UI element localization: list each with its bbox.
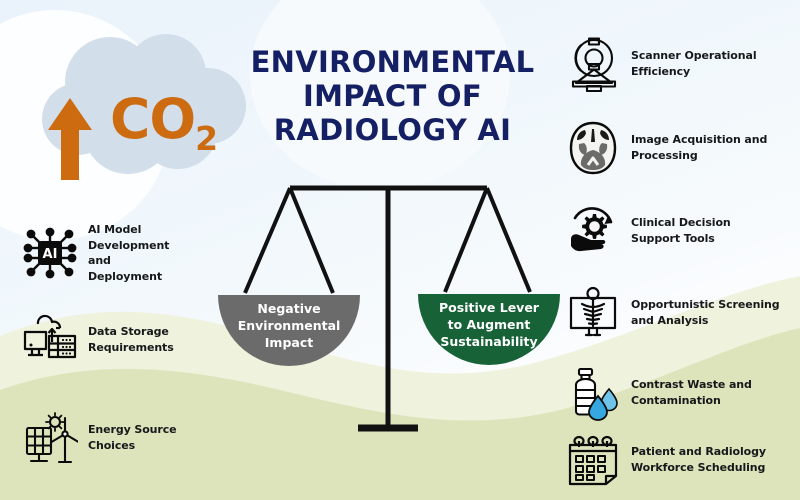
right-pan-line-2: to Augment [448,317,531,332]
list-item-image-acquisition[interactable]: Image Acquisition and Processing [565,120,781,176]
co2-label: CO2 [110,92,217,155]
list-item-workforce-scheduling[interactable]: Patient and Radiology Workforce Scheduli… [565,432,781,488]
list-item-label: Scanner Operational Efficiency [631,48,781,79]
title-line-3: RADIOLOGY AI [215,114,570,148]
brain-scan-icon [565,120,621,176]
list-item-label: Clinical Decision Support Tools [631,215,781,246]
ai-chip-icon: AI [22,225,78,281]
list-item-label: Contrast Waste and Contamination [631,377,781,408]
cloud-server-icon [22,312,78,368]
contrast-vial-icon [565,365,621,421]
balance-scale: Negative Environmental Impact Positive L… [190,175,590,460]
left-pan-line-2: Environmental [238,318,341,333]
title-line-2: IMPACT OF [215,80,570,114]
list-item-label: Patient and Radiology Workforce Scheduli… [631,444,781,475]
list-item-opportunistic-screening[interactable]: Opportunistic Screening and Analysis [565,285,781,341]
right-pan-line-3: Sustainability [440,334,537,349]
mri-scanner-icon [565,36,621,92]
xray-body-icon [565,285,621,341]
list-item-label: Image Acquisition and Processing [631,132,781,163]
list-item-contrast-waste[interactable]: Contrast Waste and Contamination [565,365,781,421]
hand-gear-icon [565,203,621,259]
calendar-icon [565,432,621,488]
svg-text:AI: AI [43,247,58,262]
infographic-canvas: CO2 ENVIRONMENTAL IMPACT OF RADIOLOGY AI… [0,0,800,500]
list-item-label: Energy Source Choices [88,422,180,453]
left-pan-line-1: Negative [257,301,320,316]
list-item-clinical-decision[interactable]: Clinical Decision Support Tools [565,203,781,259]
list-item-data-storage[interactable]: Data Storage Requirements [22,312,180,368]
solar-wind-icon [22,410,78,466]
page-title: ENVIRONMENTAL IMPACT OF RADIOLOGY AI [215,46,570,148]
up-arrow-icon [46,96,94,182]
title-line-1: ENVIRONMENTAL [215,46,570,80]
left-pan-line-3: Impact [265,335,313,350]
right-pan-line-1: Positive Lever [439,300,540,315]
list-item-label: AI Model Development and Deployment [88,222,180,284]
list-item-ai-model[interactable]: AI AI Model Development and Deployment [22,222,180,284]
list-item-label: Opportunistic Screening and Analysis [631,297,781,328]
list-item-label: Data Storage Requirements [88,324,180,355]
list-item-scanner-efficiency[interactable]: Scanner Operational Efficiency [565,36,781,92]
list-item-energy-source[interactable]: Energy Source Choices [22,410,180,466]
